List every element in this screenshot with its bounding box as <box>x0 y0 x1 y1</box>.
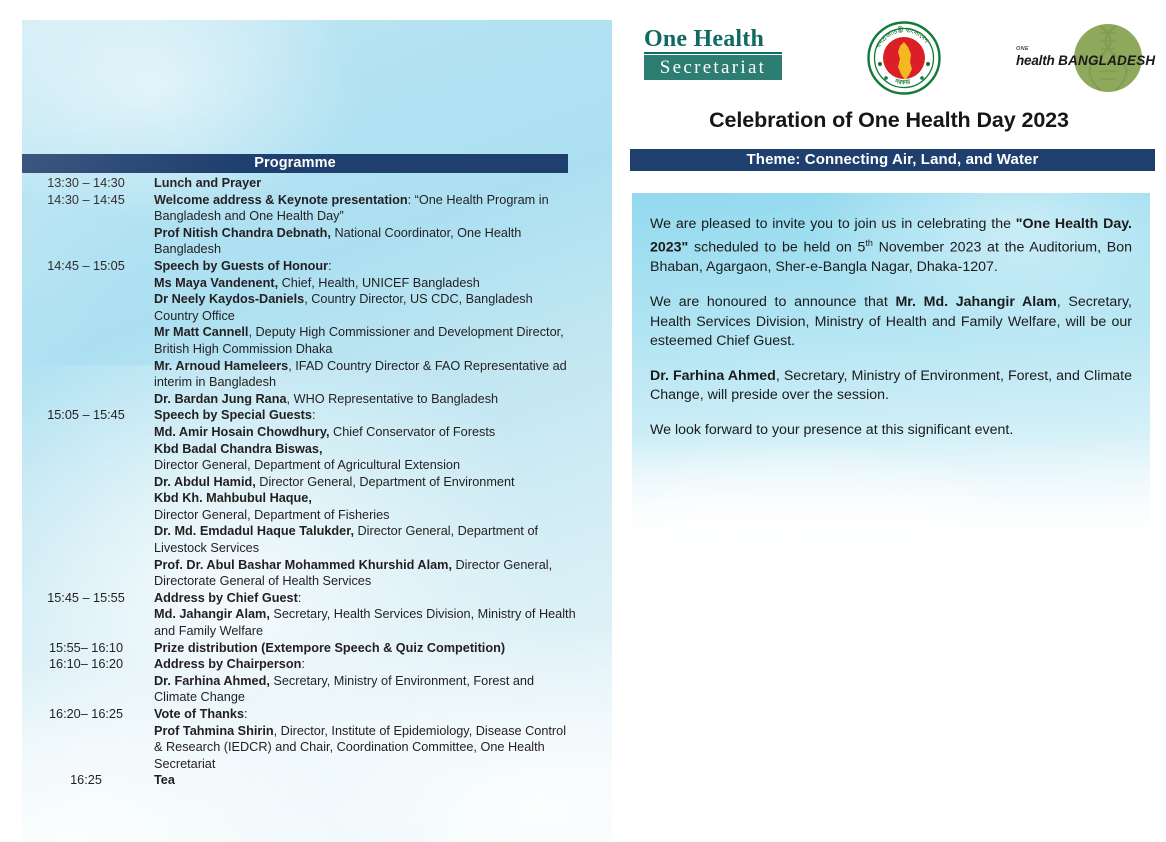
event-title: Celebration of One Health Day 2023 <box>612 108 1166 133</box>
programme-row-line: Dr. Farhina Ahmed, Secretary, Ministry o… <box>154 673 576 706</box>
programme-row-line: Lunch and Prayer <box>154 175 576 192</box>
programme-person-name: Dr. Md. Emdadul Haque Talukder, <box>154 524 354 538</box>
programme-row-description: Speech by Special Guests:Md. Amir Hosain… <box>154 407 582 590</box>
programme-row-line: Prof Nitish Chandra Debnath, National Co… <box>154 225 576 258</box>
programme-row-line: Tea <box>154 772 576 789</box>
programme-row-line: Dr Neely Kaydos-Daniels, Country Directo… <box>154 291 576 324</box>
programme-person-name: Lunch and Prayer <box>154 176 261 190</box>
one-health-bangladesh-logo-wordmark: health BANGLADESH <box>1016 53 1155 68</box>
programme-person-name: Welcome address & Keynote presentation <box>154 193 408 207</box>
one-health-bangladesh-logo-health: health <box>1016 53 1058 68</box>
programme-row-line: Speech by Guests of Honour: <box>154 258 576 275</box>
invitation-body-box: We are pleased to invite you to join us … <box>632 193 1150 583</box>
programme-row-description: Address by Chief Guest:Md. Jahangir Alam… <box>154 590 582 640</box>
programme-detail-text: : <box>301 657 305 671</box>
programme-person-name: Md. Amir Hosain Chowdhury, <box>154 425 330 439</box>
programme-row-line: Speech by Special Guests: <box>154 407 576 424</box>
programme-row-line: Prof. Dr. Abul Bashar Mohammed Khurshid … <box>154 557 576 590</box>
invitation-paragraph: We look forward to your presence at this… <box>650 421 1132 440</box>
programme-row-time: 16:25 <box>22 772 154 789</box>
programme-row-time: 14:45 – 15:05 <box>22 258 154 275</box>
programme-person-name: Md. Jahangir Alam, <box>154 607 270 621</box>
programme-row-line: Welcome address & Keynote presentation: … <box>154 192 576 225</box>
programme-row-line: Director General, Department of Agricult… <box>154 457 576 474</box>
programme-row: 15:55– 16:10Prize distribution (Extempor… <box>22 640 582 657</box>
programme-person-name: Kbd Kh. Mahbubul Haque, <box>154 491 312 505</box>
programme-row: 15:05 – 15:45Speech by Special Guests:Md… <box>22 407 582 590</box>
programme-row-description: Welcome address & Keynote presentation: … <box>154 192 582 258</box>
programme-row-line: Md. Amir Hosain Chowdhury, Chief Conserv… <box>154 424 576 441</box>
programme-table: 13:30 – 14:30Lunch and Prayer14:30 – 14:… <box>22 175 582 789</box>
programme-row-description: Prize distribution (Extempore Speech & Q… <box>154 640 582 657</box>
one-health-bangladesh-logo: ONE health BANGLADESH <box>1012 22 1162 94</box>
programme-row-line: Address by Chief Guest: <box>154 590 576 607</box>
programme-person-name: Speech by Special Guests <box>154 408 312 422</box>
invitation-text: scheduled to be held on 5 <box>688 240 865 256</box>
programme-row: 13:30 – 14:30Lunch and Prayer <box>22 175 582 192</box>
programme-detail-text: : <box>312 408 316 422</box>
programme-row-line: Mr. Arnoud Hameleers, IFAD Country Direc… <box>154 358 576 391</box>
logo-row: One Health Secretariat গণপ্রজাতন্ত্রী বা… <box>630 20 1160 102</box>
programme-row-line: Kbd Kh. Mahbubul Haque, <box>154 490 576 507</box>
programme-row-line: Prize distribution (Extempore Speech & Q… <box>154 640 576 657</box>
programme-detail-text: Director General, Department of Agricult… <box>154 458 460 472</box>
programme-person-name: Address by Chief Guest <box>154 591 298 605</box>
programme-person-name: Mr Matt Cannell <box>154 325 248 339</box>
theme-banner: Theme: Connecting Air, Land, and Water <box>630 149 1155 171</box>
programme-person-name: Mr. Arnoud Hameleers <box>154 359 288 373</box>
programme-row: 14:45 – 15:05Speech by Guests of Honour:… <box>22 258 582 407</box>
programme-person-name: Kbd Badal Chandra Biswas, <box>154 442 323 456</box>
programme-row-time: 15:55– 16:10 <box>22 640 154 657</box>
one-health-secretariat-logo-line2: Secretariat <box>644 55 782 80</box>
programme-detail-text: , WHO Representative to Bangladesh <box>287 392 499 406</box>
programme-detail-text: : <box>244 707 248 721</box>
programme-row-time: 16:10– 16:20 <box>22 656 154 673</box>
invitation-paragraph: We are pleased to invite you to join us … <box>650 215 1132 277</box>
programme-person-name: Dr. Farhina Ahmed, <box>154 674 270 688</box>
programme-detail-text: Director General, Department of Fisherie… <box>154 508 390 522</box>
programme-row-time: 14:30 – 14:45 <box>22 192 154 209</box>
programme-row: 16:20– 16:25Vote of Thanks:Prof Tahmina … <box>22 706 582 772</box>
programme-row-line: Dr. Md. Emdadul Haque Talukder, Director… <box>154 523 576 556</box>
one-health-secretariat-logo: One Health Secretariat <box>644 26 794 80</box>
programme-person-name: Dr. Abdul Hamid, <box>154 475 256 489</box>
bangladesh-government-seal-icon: গণপ্রজাতন্ত্রী বাংলাদেশ সরকার <box>867 21 941 95</box>
programme-row: 16:10– 16:20Address by Chairperson:Dr. F… <box>22 656 582 706</box>
programme-person-name: Ms Maya Vandenent, <box>154 276 278 290</box>
programme-row-line: Kbd Badal Chandra Biswas, <box>154 441 576 458</box>
programme-row-description: Vote of Thanks:Prof Tahmina Shirin, Dire… <box>154 706 582 772</box>
programme-detail-text: : <box>328 259 332 273</box>
programme-row-time: 13:30 – 14:30 <box>22 175 154 192</box>
programme-detail-text: Chief Conservator of Forests <box>330 425 496 439</box>
programme-row-line: Vote of Thanks: <box>154 706 576 723</box>
one-health-secretariat-logo-line1: One Health <box>644 26 782 54</box>
programme-row-description: Tea <box>154 772 582 789</box>
ordinal-suffix: th <box>865 238 873 248</box>
programme-person-name: Address by Chairperson <box>154 657 301 671</box>
programme-row: 15:45 – 15:55Address by Chief Guest:Md. … <box>22 590 582 640</box>
invitation-text: We are pleased to invite you to join us … <box>650 216 1016 232</box>
one-health-bangladesh-logo-bangladesh: BANGLADESH <box>1058 53 1155 68</box>
programme-row-time: 16:20– 16:25 <box>22 706 154 723</box>
programme-row-line: Address by Chairperson: <box>154 656 576 673</box>
programme-row-time: 15:05 – 15:45 <box>22 407 154 424</box>
programme-row-line: Md. Jahangir Alam, Secretary, Health Ser… <box>154 606 576 639</box>
programme-person-name: Prof Nitish Chandra Debnath, <box>154 226 331 240</box>
programme-row-time: 15:45 – 15:55 <box>22 590 154 607</box>
programme-panel: Programme 13:30 – 14:30Lunch and Prayer1… <box>22 20 612 842</box>
programme-detail-text: : <box>298 591 302 605</box>
programme-row: 14:30 – 14:45Welcome address & Keynote p… <box>22 192 582 258</box>
invitation-paragraph: Dr. Farhina Ahmed, Secretary, Ministry o… <box>650 367 1132 405</box>
programme-person-name: Prof. Dr. Abul Bashar Mohammed Khurshid … <box>154 558 452 572</box>
programme-person-name: Dr. Bardan Jung Rana <box>154 392 287 406</box>
invitation-body-text: We are pleased to invite you to join us … <box>650 215 1132 457</box>
invitation-highlight: Dr. Farhina Ahmed <box>650 368 776 384</box>
invitation-text: We are honoured to announce that <box>650 294 895 310</box>
programme-row-line: Dr. Bardan Jung Rana, WHO Representative… <box>154 391 576 408</box>
programme-detail-text: Director General, Department of Environm… <box>256 475 515 489</box>
programme-detail-text: Chief, Health, UNICEF Bangladesh <box>278 276 480 290</box>
invitation-highlight: Mr. Md. Jahangir Alam <box>895 294 1056 310</box>
programme-person-name: Prof Tahmina Shirin <box>154 724 274 738</box>
programme-row-description: Address by Chairperson:Dr. Farhina Ahmed… <box>154 656 582 706</box>
programme-person-name: Tea <box>154 773 175 787</box>
programme-row: 16:25Tea <box>22 772 582 789</box>
programme-row-description: Speech by Guests of Honour:Ms Maya Vande… <box>154 258 582 407</box>
programme-person-name: Vote of Thanks <box>154 707 244 721</box>
programme-row-description: Lunch and Prayer <box>154 175 582 192</box>
programme-row-line: Prof Tahmina Shirin, Director, Institute… <box>154 723 576 773</box>
one-health-bangladesh-logo-one: ONE <box>1016 46 1029 52</box>
programme-row-line: Ms Maya Vandenent, Chief, Health, UNICEF… <box>154 275 576 292</box>
programme-row-line: Director General, Department of Fisherie… <box>154 507 576 524</box>
programme-row-line: Mr Matt Cannell, Deputy High Commissione… <box>154 324 576 357</box>
invitation-text: We look forward to your presence at this… <box>650 422 1013 438</box>
programme-person-name: Dr Neely Kaydos-Daniels <box>154 292 304 306</box>
programme-row-line: Dr. Abdul Hamid, Director General, Depar… <box>154 474 576 491</box>
programme-person-name: Speech by Guests of Honour <box>154 259 328 273</box>
programme-person-name: Prize distribution (Extempore Speech & Q… <box>154 641 505 655</box>
programme-header-bar: Programme <box>22 154 568 173</box>
invitation-paragraph: We are honoured to announce that Mr. Md.… <box>650 293 1132 351</box>
